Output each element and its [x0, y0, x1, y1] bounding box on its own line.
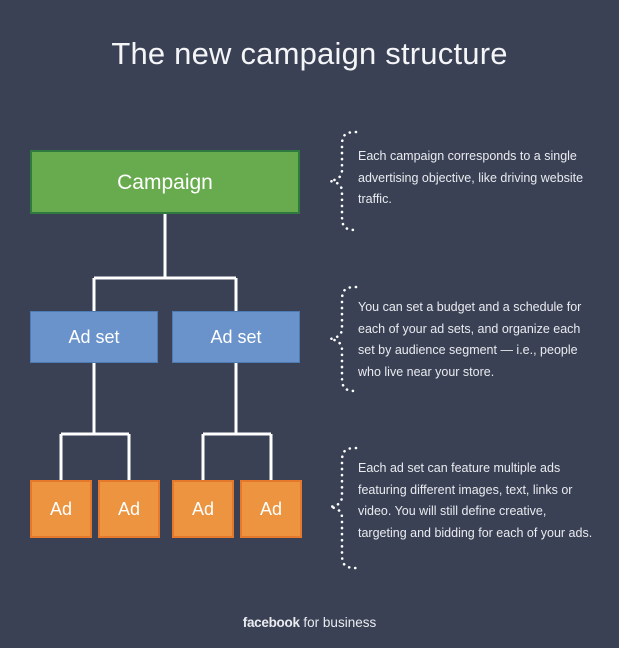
node-ad-2-label: Ad — [118, 500, 140, 518]
dotted-brace-icon — [322, 444, 362, 574]
infographic-canvas: The new campaign structure Campaign A — [0, 0, 619, 648]
annotation-campaign-text: Each campaign corresponds to a single ad… — [358, 146, 598, 211]
facebook-wordmark: facebook — [243, 615, 300, 630]
annotation-ad-set-text: You can set a budget and a schedule for … — [358, 297, 598, 383]
node-ad-1-label: Ad — [50, 500, 72, 518]
annotation-ad-text: Each ad set can feature multiple ads fea… — [358, 458, 598, 544]
node-campaign[interactable]: Campaign — [30, 150, 300, 214]
page-title: The new campaign structure — [0, 36, 619, 72]
node-ad-4[interactable]: Ad — [240, 480, 302, 538]
node-ad-set-1[interactable]: Ad set — [30, 311, 158, 363]
annotation-ad: Each ad set can feature multiple ads fea… — [322, 444, 612, 574]
annotation-ad-set: You can set a budget and a schedule for … — [322, 283, 612, 395]
node-ad-set-2-label: Ad set — [210, 328, 261, 346]
footer-tagline: for business — [303, 615, 376, 630]
node-ad-3-label: Ad — [192, 500, 214, 518]
annotation-campaign: Each campaign corresponds to a single ad… — [322, 128, 612, 234]
dotted-brace-icon — [322, 283, 362, 395]
dotted-brace-icon — [322, 128, 362, 234]
footer-branding: facebook for business — [0, 615, 619, 630]
node-campaign-label: Campaign — [117, 172, 213, 193]
node-ad-set-2[interactable]: Ad set — [172, 311, 300, 363]
node-ad-1[interactable]: Ad — [30, 480, 92, 538]
node-ad-4-label: Ad — [260, 500, 282, 518]
node-ad-set-1-label: Ad set — [68, 328, 119, 346]
node-ad-3[interactable]: Ad — [172, 480, 234, 538]
node-ad-2[interactable]: Ad — [98, 480, 160, 538]
